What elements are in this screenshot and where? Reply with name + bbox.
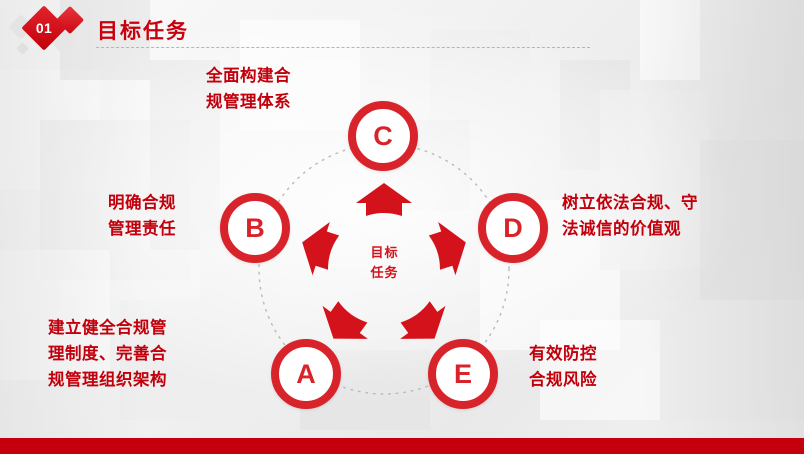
target-tasks-diagram: 目标 任务 A B C D E 建立健全合规管 理制度、完善合 规管理组织架构 … (0, 0, 804, 454)
footer-accent-bar (0, 438, 804, 454)
caption-a-line-3: 规管理组织架构 (48, 367, 213, 393)
caption-node-b: 明确合规 管理责任 (108, 190, 208, 242)
caption-d-line-2: 法诚信的价值观 (562, 216, 737, 242)
caption-c-line-2: 规管理体系 (206, 89, 336, 115)
diagram-node-a[interactable]: A (271, 339, 341, 409)
caption-a-line-2: 理制度、完善合 (48, 341, 213, 367)
caption-node-a: 建立健全合规管 理制度、完善合 规管理组织架构 (48, 315, 213, 393)
hub-center-line2: 任务 (352, 263, 417, 283)
caption-b-line-2: 管理责任 (108, 216, 208, 242)
hub-center-line1: 目标 (352, 243, 417, 263)
caption-node-c: 全面构建合 规管理体系 (206, 63, 336, 115)
hub-arrow-c (356, 183, 412, 216)
diagram-node-c[interactable]: C (348, 101, 418, 171)
hub-arrow-d (426, 216, 475, 279)
caption-d-line-1: 树立依法合规、守 (562, 190, 737, 216)
hub-center-label: 目标 任务 (352, 243, 417, 283)
slide-canvas: 01 目标任务 (0, 0, 804, 454)
diagram-node-e[interactable]: E (428, 339, 498, 409)
caption-node-d: 树立依法合规、守 法诚信的价值观 (562, 190, 737, 242)
caption-e-line-2: 合规风险 (529, 367, 639, 393)
hub-arrow-b (294, 216, 343, 279)
caption-b-line-1: 明确合规 (108, 190, 208, 216)
diagram-node-b[interactable]: B (220, 193, 290, 263)
caption-e-line-1: 有效防控 (529, 341, 639, 367)
diagram-node-d[interactable]: D (478, 193, 548, 263)
caption-c-line-1: 全面构建合 (206, 63, 336, 89)
caption-a-line-1: 建立健全合规管 (48, 315, 213, 341)
caption-node-e: 有效防控 合规风险 (529, 341, 639, 393)
